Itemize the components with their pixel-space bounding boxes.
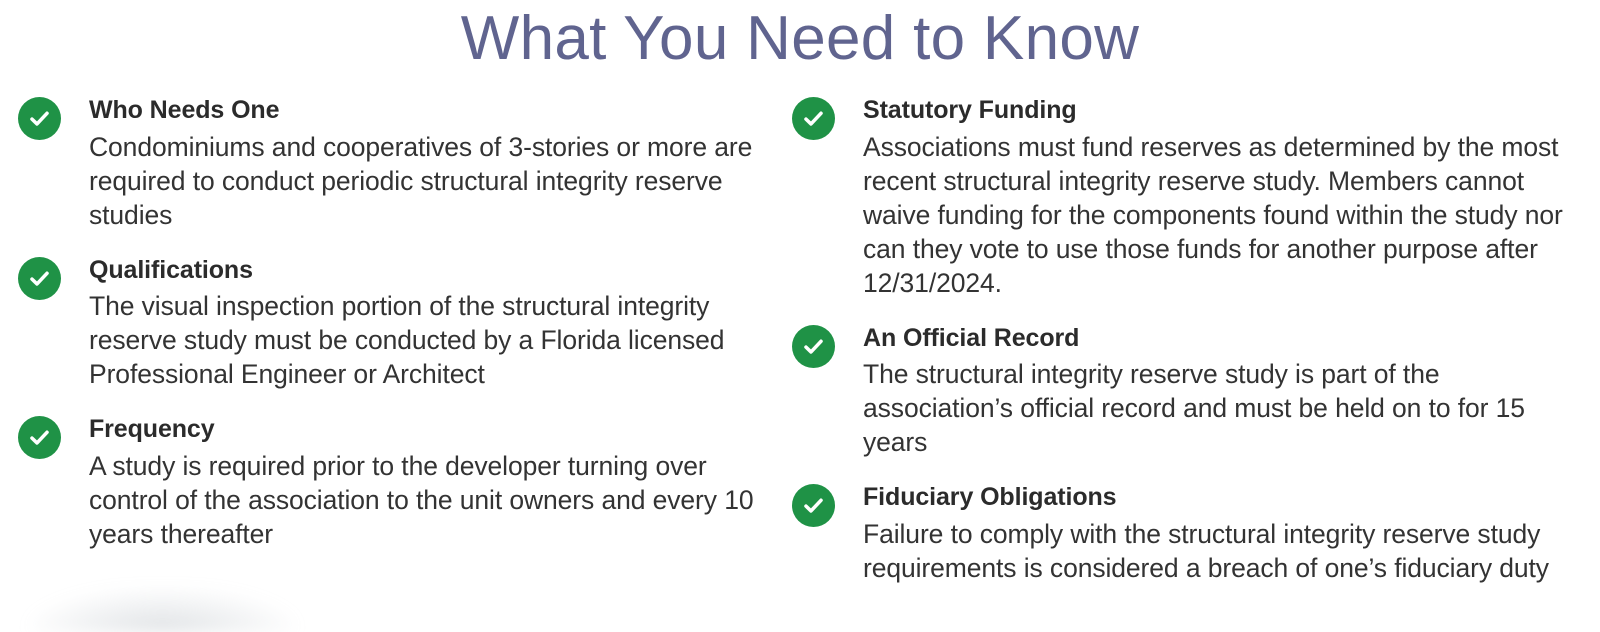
fact-column-left: Who Needs One Condominiums and cooperati… (0, 94, 790, 551)
fact-body: An Official Record The structural integr… (863, 322, 1582, 460)
fact-title: Who Needs One (89, 94, 770, 127)
fact-text: The structural integrity reserve study i… (863, 357, 1582, 459)
fact-text: Associations must fund reserves as deter… (863, 130, 1582, 300)
fact-title: Statutory Funding (863, 94, 1582, 127)
page-title: What You Need to Know (0, 0, 1600, 70)
fact-column-right: Statutory Funding Associations must fund… (790, 94, 1600, 585)
fact-item: Who Needs One Condominiums and cooperati… (18, 94, 770, 232)
card-shadow (30, 588, 295, 632)
check-circle-icon (792, 325, 835, 368)
fact-item: Statutory Funding Associations must fund… (792, 94, 1582, 300)
fact-item: Fiduciary Obligations Failure to comply … (792, 481, 1582, 585)
fact-item: Qualifications The visual inspection por… (18, 254, 770, 392)
fact-text: Condominiums and cooperatives of 3-stori… (89, 130, 770, 232)
fact-columns: Who Needs One Condominiums and cooperati… (0, 94, 1600, 585)
fact-title: Qualifications (89, 254, 770, 287)
slide-root: What You Need to Know Who Needs One Cond… (0, 0, 1600, 632)
fact-title: An Official Record (863, 322, 1582, 355)
check-circle-icon (18, 257, 61, 300)
fact-text: The visual inspection portion of the str… (89, 289, 770, 391)
fact-title: Fiduciary Obligations (863, 481, 1582, 514)
fact-item: Frequency A study is required prior to t… (18, 413, 770, 551)
fact-title: Frequency (89, 413, 770, 446)
fact-text: A study is required prior to the develop… (89, 449, 770, 551)
fact-item: An Official Record The structural integr… (792, 322, 1582, 460)
fact-body: Who Needs One Condominiums and cooperati… (89, 94, 770, 232)
fact-body: Qualifications The visual inspection por… (89, 254, 770, 392)
fact-text: Failure to comply with the structural in… (863, 517, 1582, 585)
check-circle-icon (792, 97, 835, 140)
fact-body: Frequency A study is required prior to t… (89, 413, 770, 551)
check-circle-icon (18, 416, 61, 459)
fact-body: Fiduciary Obligations Failure to comply … (863, 481, 1582, 585)
fact-body: Statutory Funding Associations must fund… (863, 94, 1582, 300)
check-circle-icon (18, 97, 61, 140)
check-circle-icon (792, 484, 835, 527)
